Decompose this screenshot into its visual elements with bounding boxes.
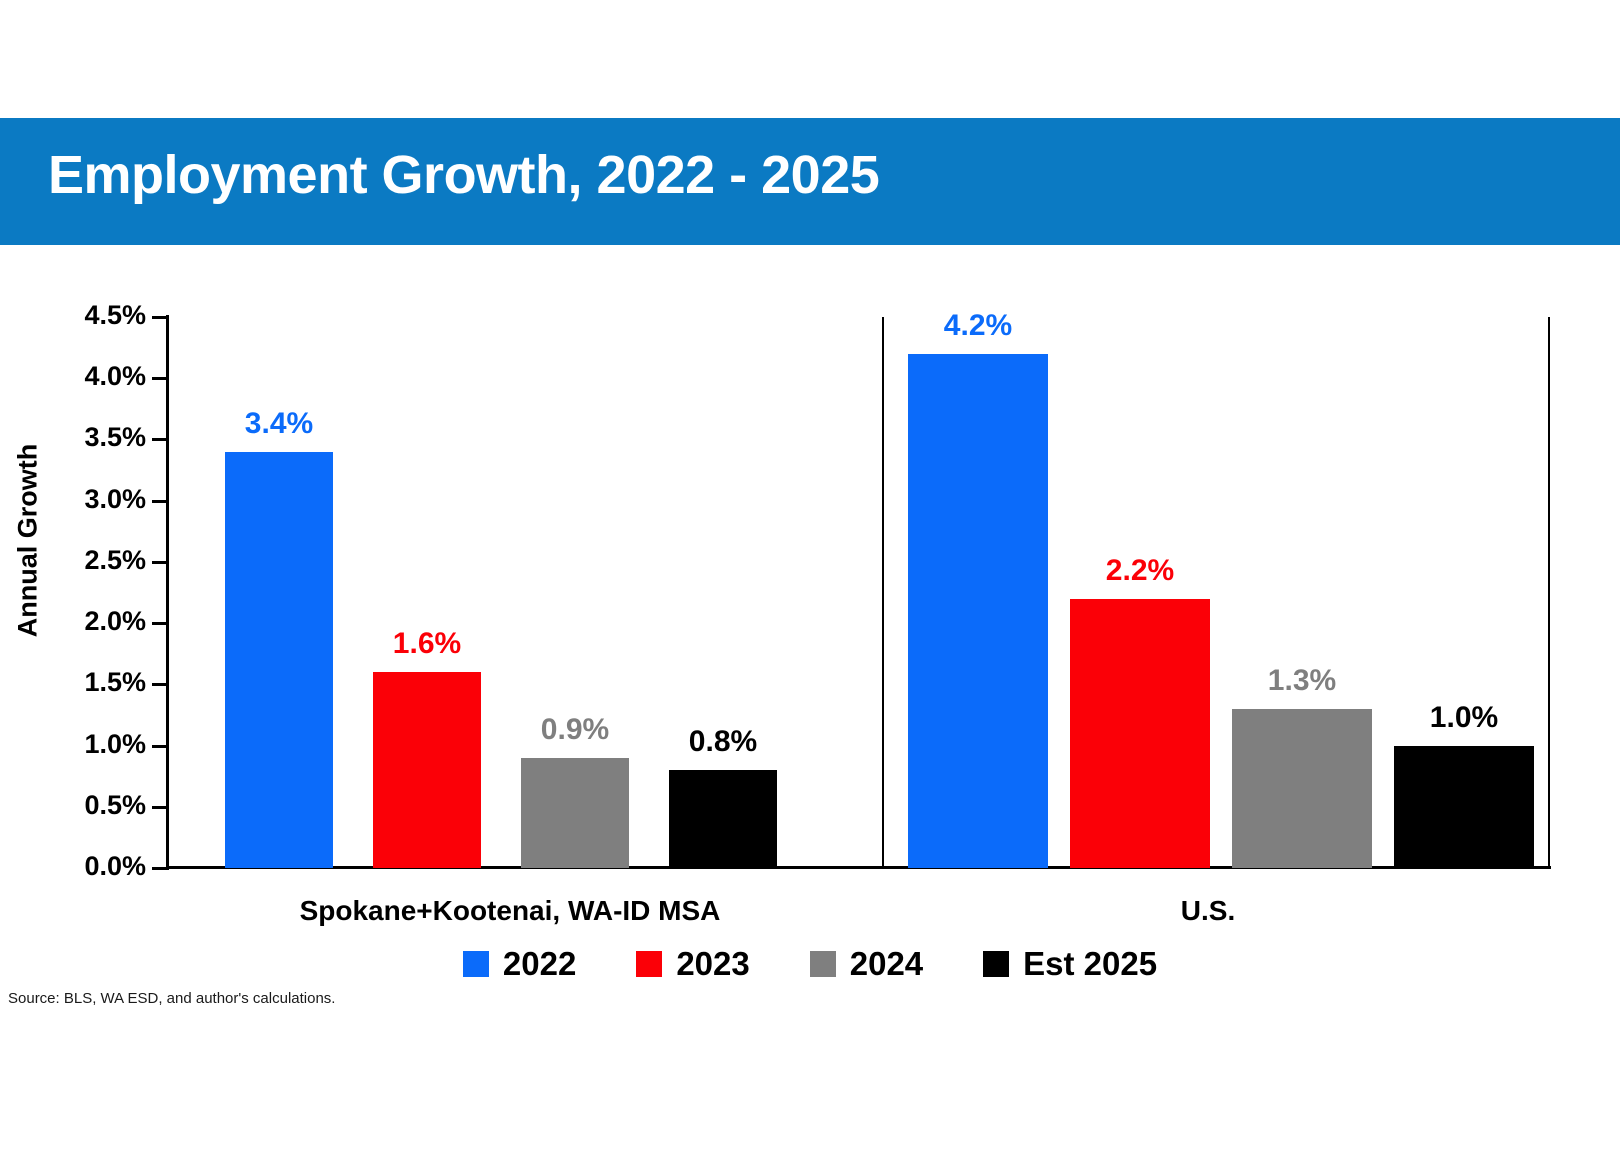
- legend-swatch-icon: [463, 951, 489, 977]
- y-axis-tick-label: 2.0%: [36, 606, 146, 637]
- chart-legend: 202220232024Est 2025: [0, 945, 1620, 983]
- legend-label: 2023: [676, 945, 749, 983]
- bar-value-label: 4.2%: [868, 309, 1088, 343]
- plot-right-edge: [1548, 317, 1550, 868]
- y-axis-tick-label: 3.5%: [36, 422, 146, 453]
- bar-value-label: 3.4%: [185, 407, 373, 441]
- legend-swatch-icon: [983, 951, 1009, 977]
- y-axis-tick-label: 4.0%: [36, 361, 146, 392]
- bar: [1232, 709, 1372, 868]
- y-axis-tick-mark: [152, 377, 167, 380]
- y-axis-tick-mark: [152, 438, 167, 441]
- y-axis-tick-mark: [152, 683, 167, 686]
- y-axis-tick-label: 1.5%: [36, 667, 146, 698]
- bar-value-label: 1.3%: [1192, 664, 1412, 698]
- legend-swatch-icon: [636, 951, 662, 977]
- bar-value-label: 1.0%: [1354, 701, 1574, 735]
- employment-growth-bar-chart: Annual Growth 0.0%0.5%1.0%1.5%2.0%2.5%3.…: [0, 245, 1620, 1158]
- bar: [225, 452, 333, 868]
- legend-item-2023[interactable]: 2023: [636, 945, 749, 983]
- y-axis-tick-mark: [152, 867, 167, 870]
- y-axis-tick-label: 3.0%: [36, 484, 146, 515]
- y-axis-tick-mark: [152, 622, 167, 625]
- legend-item-est-2025[interactable]: Est 2025: [983, 945, 1157, 983]
- x-axis-category-label: Spokane+Kootenai, WA-ID MSA: [160, 895, 860, 927]
- bar: [1394, 746, 1534, 868]
- bar: [373, 672, 481, 868]
- y-axis-tick-mark: [152, 500, 167, 503]
- y-axis-tick-mark: [152, 316, 167, 319]
- y-axis-tick-label: 4.5%: [36, 300, 146, 331]
- y-axis-tick-label: 1.0%: [36, 729, 146, 760]
- legend-item-2022[interactable]: 2022: [463, 945, 576, 983]
- legend-label: 2024: [850, 945, 923, 983]
- y-axis-tick-label: 0.5%: [36, 790, 146, 821]
- y-axis-tick-mark: [152, 745, 167, 748]
- y-axis-tick-mark: [152, 806, 167, 809]
- y-axis-title: Annual Growth: [13, 281, 44, 801]
- y-axis-tick-label: 2.5%: [36, 545, 146, 576]
- bar-value-label: 1.6%: [333, 627, 521, 661]
- legend-item-2024[interactable]: 2024: [810, 945, 923, 983]
- page-title: Employment Growth, 2022 - 2025: [48, 144, 879, 206]
- legend-swatch-icon: [810, 951, 836, 977]
- y-axis-tick-label: 0.0%: [36, 851, 146, 882]
- title-band: Employment Growth, 2022 - 2025: [0, 118, 1620, 245]
- bar: [908, 354, 1048, 868]
- bar: [669, 770, 777, 868]
- source-note: Source: BLS, WA ESD, and author's calcul…: [8, 990, 335, 1007]
- bar: [1070, 599, 1210, 868]
- y-axis-tick-mark: [152, 561, 167, 564]
- group-divider-line: [882, 317, 884, 868]
- x-axis-category-label: U.S.: [858, 895, 1558, 927]
- y-axis-line: [166, 315, 169, 870]
- bar-value-label: 2.2%: [1030, 554, 1250, 588]
- legend-label: Est 2025: [1023, 945, 1157, 983]
- bar-value-label: 0.8%: [629, 725, 817, 759]
- bar: [521, 758, 629, 868]
- legend-label: 2022: [503, 945, 576, 983]
